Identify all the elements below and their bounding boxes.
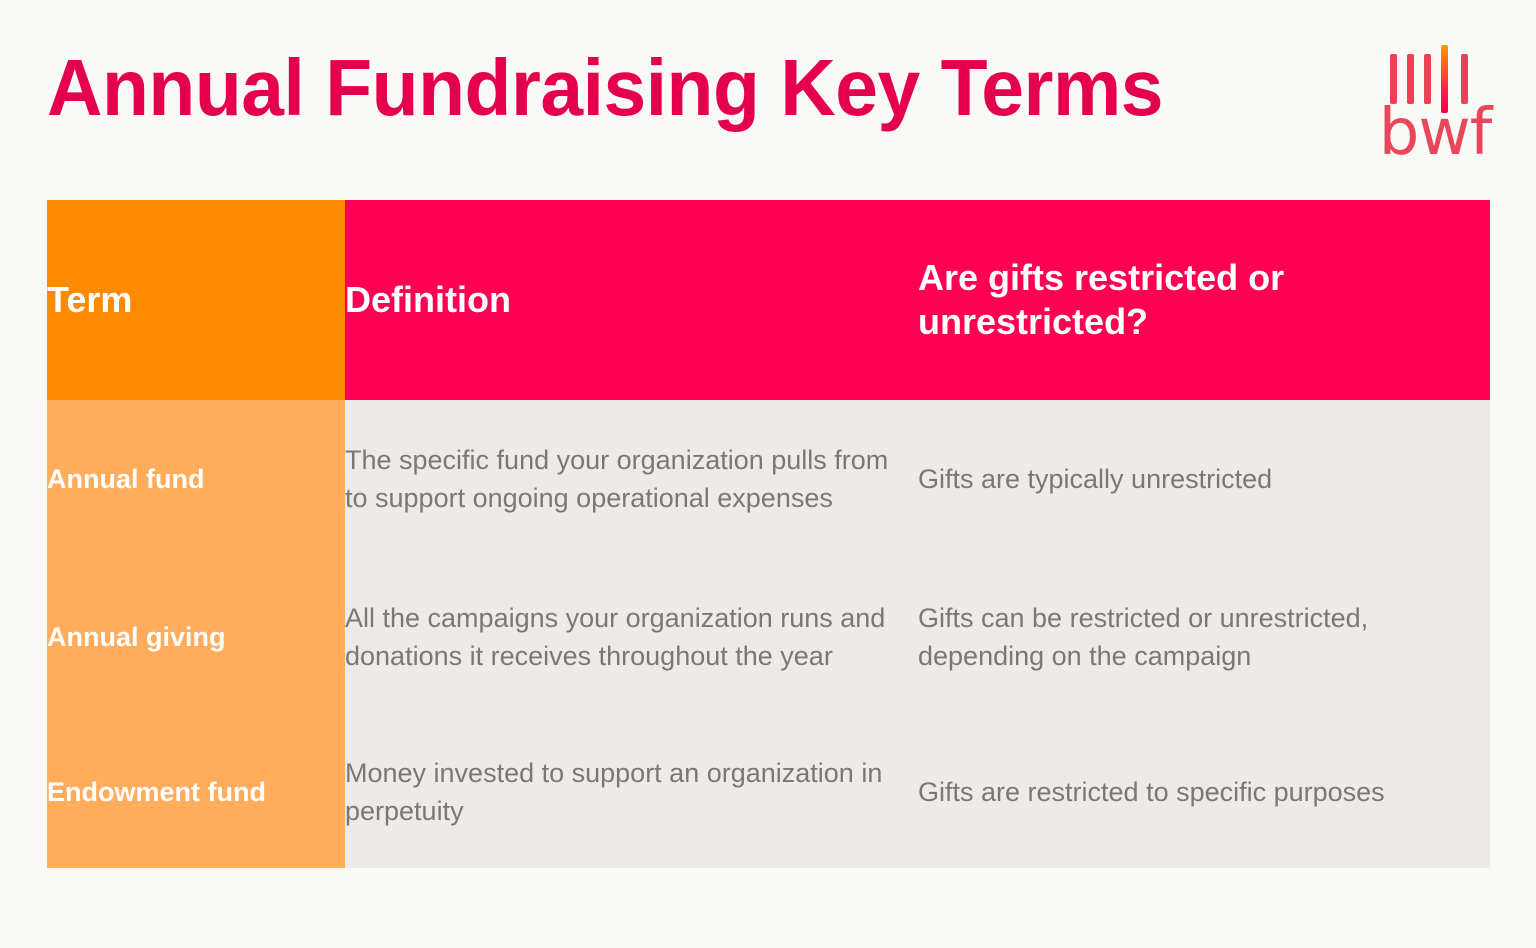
bwf-logo: bwf xyxy=(1376,36,1494,168)
page-title: Annual Fundraising Key Terms xyxy=(47,42,1163,134)
page-root: Annual Fundraising Key Terms bwf Term xyxy=(0,0,1536,948)
logo-wordmark: bwf xyxy=(1376,98,1494,168)
cell-definition: All the campaigns your organization runs… xyxy=(345,558,918,716)
table-header-row: Term Definition Are gifts restricted or … xyxy=(47,200,1490,400)
restriction-text: Gifts are restricted to specific purpose… xyxy=(918,773,1490,811)
table-row: Annual fund The specific fund your organ… xyxy=(47,400,1490,558)
definition-text: Money invested to support an organizatio… xyxy=(345,754,918,830)
restriction-text: Gifts are typically unrestricted xyxy=(918,460,1490,498)
term-label: Annual fund xyxy=(47,464,204,494)
term-label: Annual giving xyxy=(47,622,226,652)
column-header-term: Term xyxy=(47,200,345,400)
column-header-restriction-label: Are gifts restricted or unrestricted? xyxy=(918,256,1418,344)
cell-definition: Money invested to support an organizatio… xyxy=(345,716,918,868)
column-header-restriction: Are gifts restricted or unrestricted? xyxy=(918,200,1490,400)
table-body: Annual fund The specific fund your organ… xyxy=(47,400,1490,868)
cell-term: Annual fund xyxy=(47,400,345,558)
table-header: Term Definition Are gifts restricted or … xyxy=(47,200,1490,400)
logo-bars-icon xyxy=(1390,36,1480,104)
definition-text: The specific fund your organization pull… xyxy=(345,441,918,517)
cell-definition: The specific fund your organization pull… xyxy=(345,400,918,558)
column-header-definition: Definition xyxy=(345,200,918,400)
table-row: Annual giving All the campaigns your org… xyxy=(47,558,1490,716)
term-label: Endowment fund xyxy=(47,777,266,807)
key-terms-table: Term Definition Are gifts restricted or … xyxy=(47,200,1490,868)
column-header-term-label: Term xyxy=(47,278,345,322)
table-row: Endowment fund Money invested to support… xyxy=(47,716,1490,868)
cell-restriction: Gifts are typically unrestricted xyxy=(918,400,1490,558)
cell-term: Endowment fund xyxy=(47,716,345,868)
column-header-definition-label: Definition xyxy=(345,278,918,322)
restriction-text: Gifts can be restricted or unrestricted,… xyxy=(918,599,1490,675)
page-header: Annual Fundraising Key Terms bwf xyxy=(0,0,1536,192)
cell-term: Annual giving xyxy=(47,558,345,716)
cell-restriction: Gifts can be restricted or unrestricted,… xyxy=(918,558,1490,716)
cell-restriction: Gifts are restricted to specific purpose… xyxy=(918,716,1490,868)
definition-text: All the campaigns your organization runs… xyxy=(345,599,918,675)
